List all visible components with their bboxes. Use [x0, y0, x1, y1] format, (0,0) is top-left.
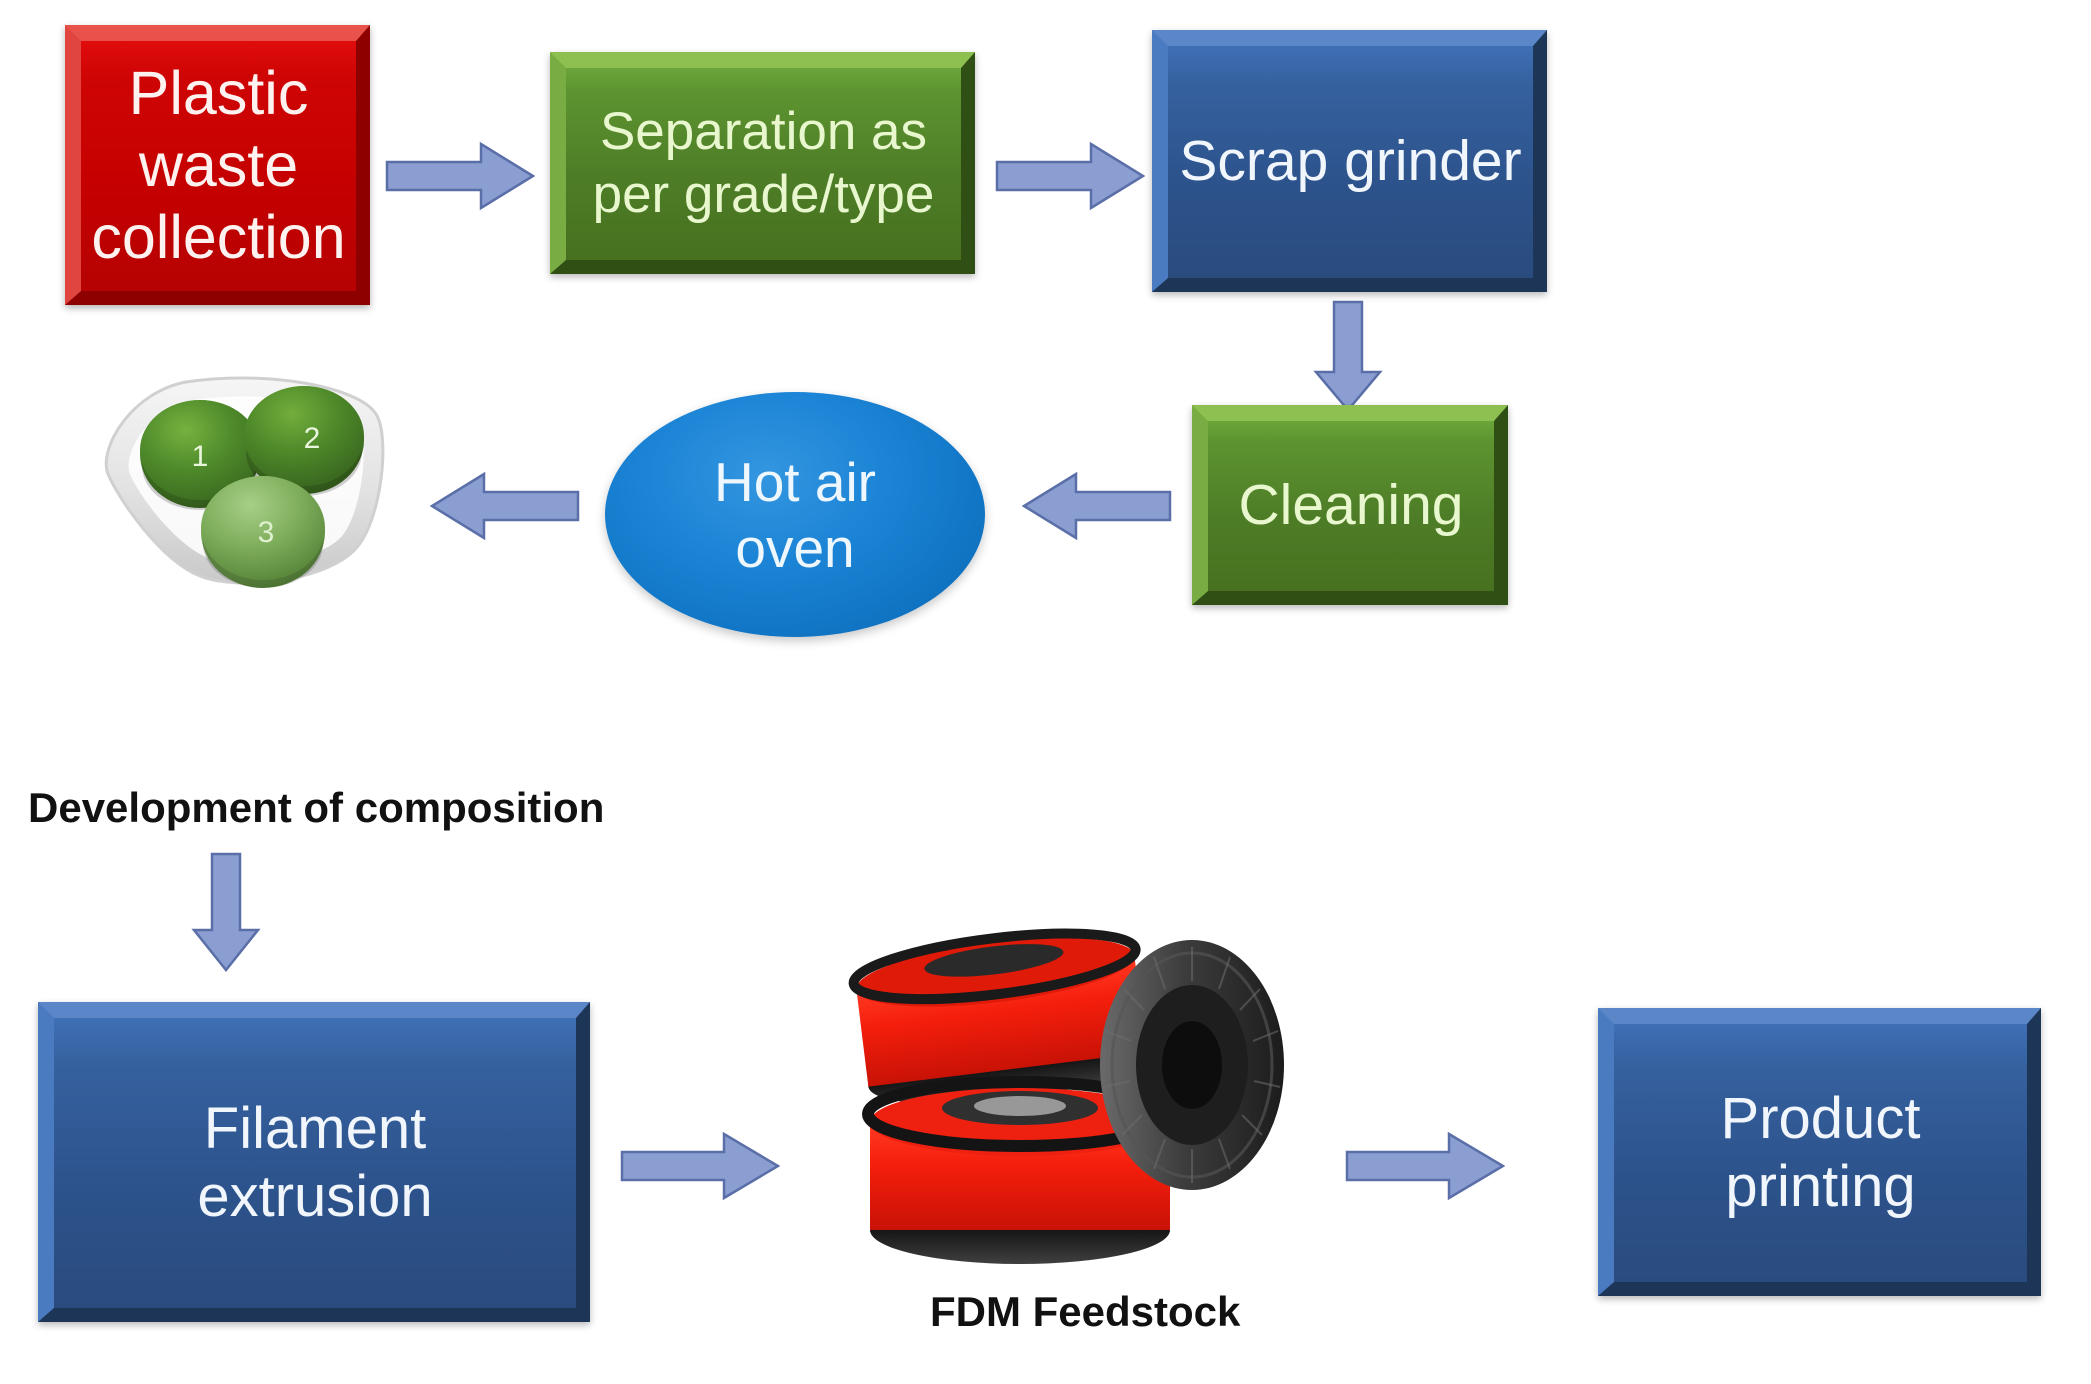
node-label-separation-as-per-grade-type: Separation as per grade/type: [593, 101, 935, 226]
arrow-left-icon-oven-to-composition: [430, 470, 580, 542]
node-cleaning[interactable]: Cleaning: [1192, 405, 1508, 605]
node-plastic-waste-collection[interactable]: Plastic waste collection: [65, 25, 370, 305]
arrow-right-icon-extrusion-to-feedstock: [620, 1130, 780, 1202]
node-hot-air-oven[interactable]: Hot air oven: [605, 392, 985, 637]
image-composition-tray: 1 2 3: [90, 370, 420, 620]
tray-disc-label-2: 2: [304, 422, 321, 455]
node-label-plastic-waste-collection: Plastic waste collection: [91, 58, 345, 274]
tray-disc-label-3: 3: [258, 516, 275, 549]
node-label-filament-extrusion: Filament extrusion: [197, 1095, 432, 1232]
caption-fdm-feedstock: FDM Feedstock: [930, 1288, 1240, 1336]
node-separation-as-per-grade-type[interactable]: Separation as per grade/type: [550, 52, 975, 274]
arrow-down-icon-grinder-to-cleaning: [1312, 300, 1384, 412]
node-filament-extrusion[interactable]: Filament extrusion: [38, 1002, 590, 1322]
flowchart-canvas: Plastic waste collection Separation as p…: [0, 0, 2091, 1384]
caption-development-of-composition: Development of composition: [28, 784, 604, 832]
node-product-printing[interactable]: Product printing: [1598, 1008, 2041, 1296]
image-fdm-feedstock-spools: [820, 900, 1300, 1280]
node-label-hot-air-oven: Hot air oven: [714, 449, 876, 581]
node-scrap-grinder[interactable]: Scrap grinder: [1152, 30, 1547, 292]
arrow-left-icon-cleaning-to-oven: [1022, 470, 1172, 542]
arrow-down-icon-composition-to-extrusion: [190, 852, 262, 972]
node-label-cleaning: Cleaning: [1239, 472, 1464, 539]
node-label-product-printing: Product printing: [1721, 1085, 1921, 1222]
tray-disc-label-1: 1: [192, 440, 209, 473]
arrow-right-icon-collection-to-separation: [385, 140, 535, 212]
arrow-right-icon-separation-to-grinder: [995, 140, 1145, 212]
node-label-scrap-grinder: Scrap grinder: [1179, 128, 1521, 195]
arrow-right-icon-feedstock-to-printing: [1345, 1130, 1505, 1202]
